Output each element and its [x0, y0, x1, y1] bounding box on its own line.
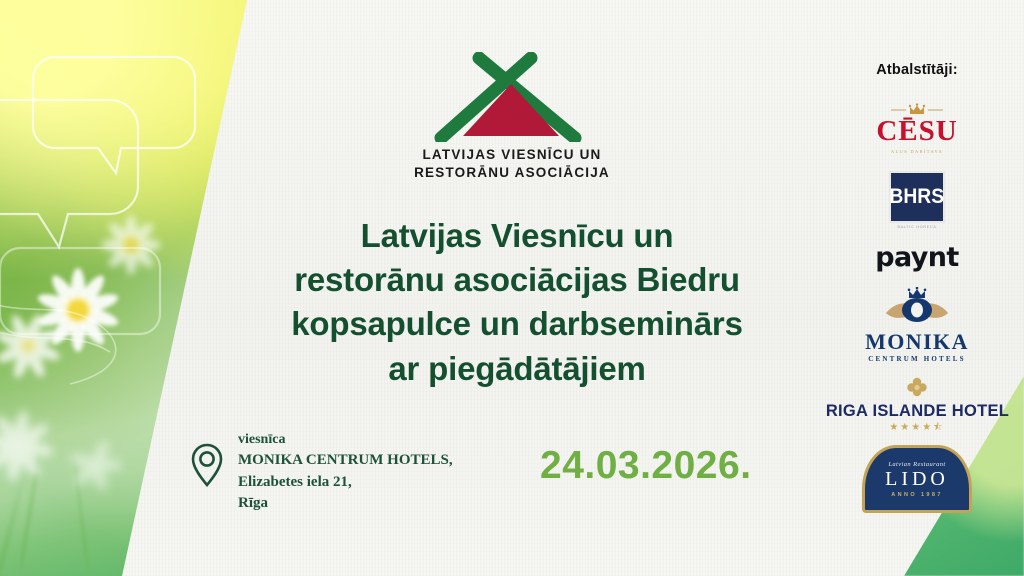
venue-label: viesnīca: [238, 430, 453, 450]
sponsor-logo-lido[interactable]: Latvian Restaurant LIDO ANNO 1987: [810, 444, 1024, 514]
lvra-logo-name: LATVIJAS VIESNĪCU UN RESTORĀNU ASOCIĀCIJ…: [382, 146, 642, 182]
venue-address: viesnīca MONIKA CENTRUM HOTELS, Elizabet…: [238, 430, 453, 515]
monika-wordmark: MONIKA: [865, 331, 969, 353]
monika-tagline: CENTRUM HOTELS: [865, 356, 969, 363]
title-line-1: Latvijas Viesnīcu un: [232, 214, 802, 258]
venue-name: MONIKA CENTRUM HOTELS,: [238, 450, 453, 472]
lido-wordmark: LIDO: [885, 469, 949, 490]
daisy-flower: [0, 398, 66, 494]
bhrs-wordmark: BHRS: [890, 185, 945, 209]
title-line-2: restorānu asociācijas Biedru: [232, 258, 802, 302]
venue-city: Rīga: [238, 493, 453, 515]
lvra-association-logo: LATVIJAS VIESNĪCU UN RESTORĀNU ASOCIĀCIJ…: [382, 52, 642, 182]
paynt-wordmark: paynt: [875, 242, 958, 273]
sponsor-logo-cesu[interactable]: CĒSU ALUS DARĪTAVA: [810, 100, 1024, 156]
title-line-4: ar piegādātājiem: [232, 347, 802, 391]
cesu-tagline: ALUS DARĪTAVA: [876, 149, 957, 154]
crown-eye-emblem-icon: [880, 287, 954, 329]
lido-anno: ANNO 1987: [891, 492, 943, 498]
lvra-tent-icon: [427, 52, 597, 142]
venue-street: Elizabetes iela 21,: [238, 472, 453, 494]
cesu-wordmark: CĒSU: [876, 117, 957, 146]
clover-ornament-icon: [905, 376, 929, 398]
sponsor-logo-bhrs[interactable]: BHRS BALTIC HORECA: [810, 170, 1024, 230]
location-pin-icon: [190, 442, 224, 493]
venue-block: viesnīca MONIKA CENTRUM HOTELS, Elizabet…: [190, 430, 453, 515]
daisy-flower: [0, 300, 74, 392]
bhrs-tagline: BALTIC HORECA: [889, 225, 945, 229]
crown-icon: [889, 103, 945, 116]
event-poster: LATVIJAS VIESNĪCU UN RESTORĀNU ASOCIĀCIJ…: [0, 0, 1024, 576]
event-date: 24.03.2026.: [540, 444, 752, 488]
sponsors-heading: Atbalstītāji:: [876, 62, 958, 78]
daisy-flower: [60, 430, 130, 500]
event-title: Latvijas Viesnīcu un restorānu asociācij…: [232, 214, 802, 391]
sponsors-column: Atbalstītāji: CĒSU ALUS DARĪTAVA BHRS BA…: [810, 0, 1024, 576]
lido-script: Latvian Restaurant: [888, 461, 945, 468]
sponsor-logo-monika[interactable]: MONIKA CENTRUM HOTELS: [810, 288, 1024, 362]
sponsor-logo-paynt[interactable]: paynt: [810, 240, 1024, 274]
sponsor-logo-riga-islande[interactable]: RIGA ISLANDE HOTEL ★★★★⯪: [810, 374, 1024, 434]
riga-islande-stars: ★★★★⯪: [823, 423, 1012, 433]
riga-islande-wordmark: RIGA ISLANDE HOTEL: [825, 402, 1008, 419]
title-line-3: kopsapulce un darbseminārs: [232, 302, 802, 346]
